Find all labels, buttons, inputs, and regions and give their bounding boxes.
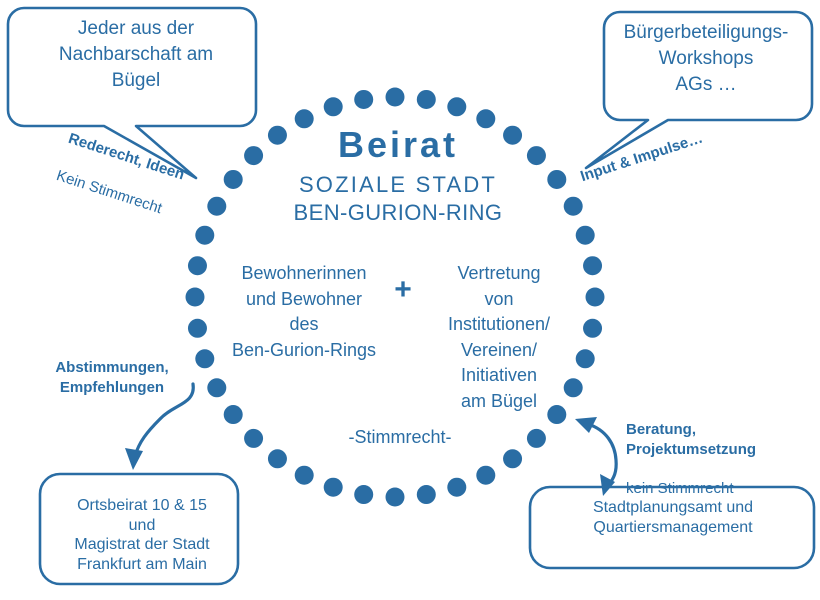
diagram-canvas: Jeder aus der Nachbarschaft am Bügel Bür… (0, 0, 820, 600)
ring-dot (354, 90, 373, 109)
connector-label-beratung-regular: kein Stimmrecht (626, 479, 804, 499)
ring-dot (195, 349, 214, 368)
ring-dot (476, 466, 495, 485)
ring-dot (324, 478, 343, 497)
ring-dot (586, 288, 605, 307)
ring-dot (583, 256, 602, 275)
connector-label-abstimmungen: Abstimmungen, Empfehlungen (38, 358, 186, 398)
ring-dot (547, 170, 566, 189)
ring-dot (576, 226, 595, 245)
ring-dot (386, 88, 405, 107)
ring-dot (503, 449, 522, 468)
ring-dot (417, 485, 436, 504)
ring-dot (447, 97, 466, 116)
connector-label-beratung-bold: Beratung, Projektumsetzung (626, 420, 804, 460)
ring-dot (268, 449, 287, 468)
ring-dot (447, 478, 466, 497)
center-column-left: Bewohnerinnen und Bewohner des Ben-Gurio… (214, 261, 394, 363)
ring-dot (188, 319, 207, 338)
ring-dot (354, 485, 373, 504)
ring-dot (244, 429, 263, 448)
arrow-beratung (575, 417, 616, 496)
ring-dot (386, 488, 405, 507)
center-column-right: Vertretung von Institutionen/ Vereinen/ … (418, 261, 580, 414)
ring-dot (476, 109, 495, 128)
bubble-top-left-text: Jeder aus der Nachbarschaft am Bügel (28, 16, 244, 95)
ring-dot (186, 288, 205, 307)
center-title: Beirat (258, 127, 538, 163)
ring-dot (224, 405, 243, 424)
plus-icon: + (386, 275, 420, 305)
box-bottom-right-text: Stadtplanungsamt und Quartiersmanagement (534, 498, 812, 537)
center-subtitle-2: BEN-GURION-RING (258, 202, 538, 224)
box-bottom-left-text: Ortsbeirat 10 & 15 und Magistrat der Sta… (44, 496, 240, 574)
ring-dot (207, 378, 226, 397)
ring-dot (295, 466, 314, 485)
ring-dot (188, 256, 207, 275)
ring-dot (583, 319, 602, 338)
ring-dot (564, 197, 583, 216)
ring-dot (417, 90, 436, 109)
ring-dot (527, 429, 546, 448)
center-footer-stimmrecht: -Stimmrecht- (315, 428, 485, 446)
ring-dot (295, 109, 314, 128)
center-subtitle-1: SOZIALE STADT (258, 174, 538, 196)
ring-dot (324, 97, 343, 116)
bubble-top-right-text: Bürgerbeteiligungs- Workshops AGs … (604, 20, 808, 99)
